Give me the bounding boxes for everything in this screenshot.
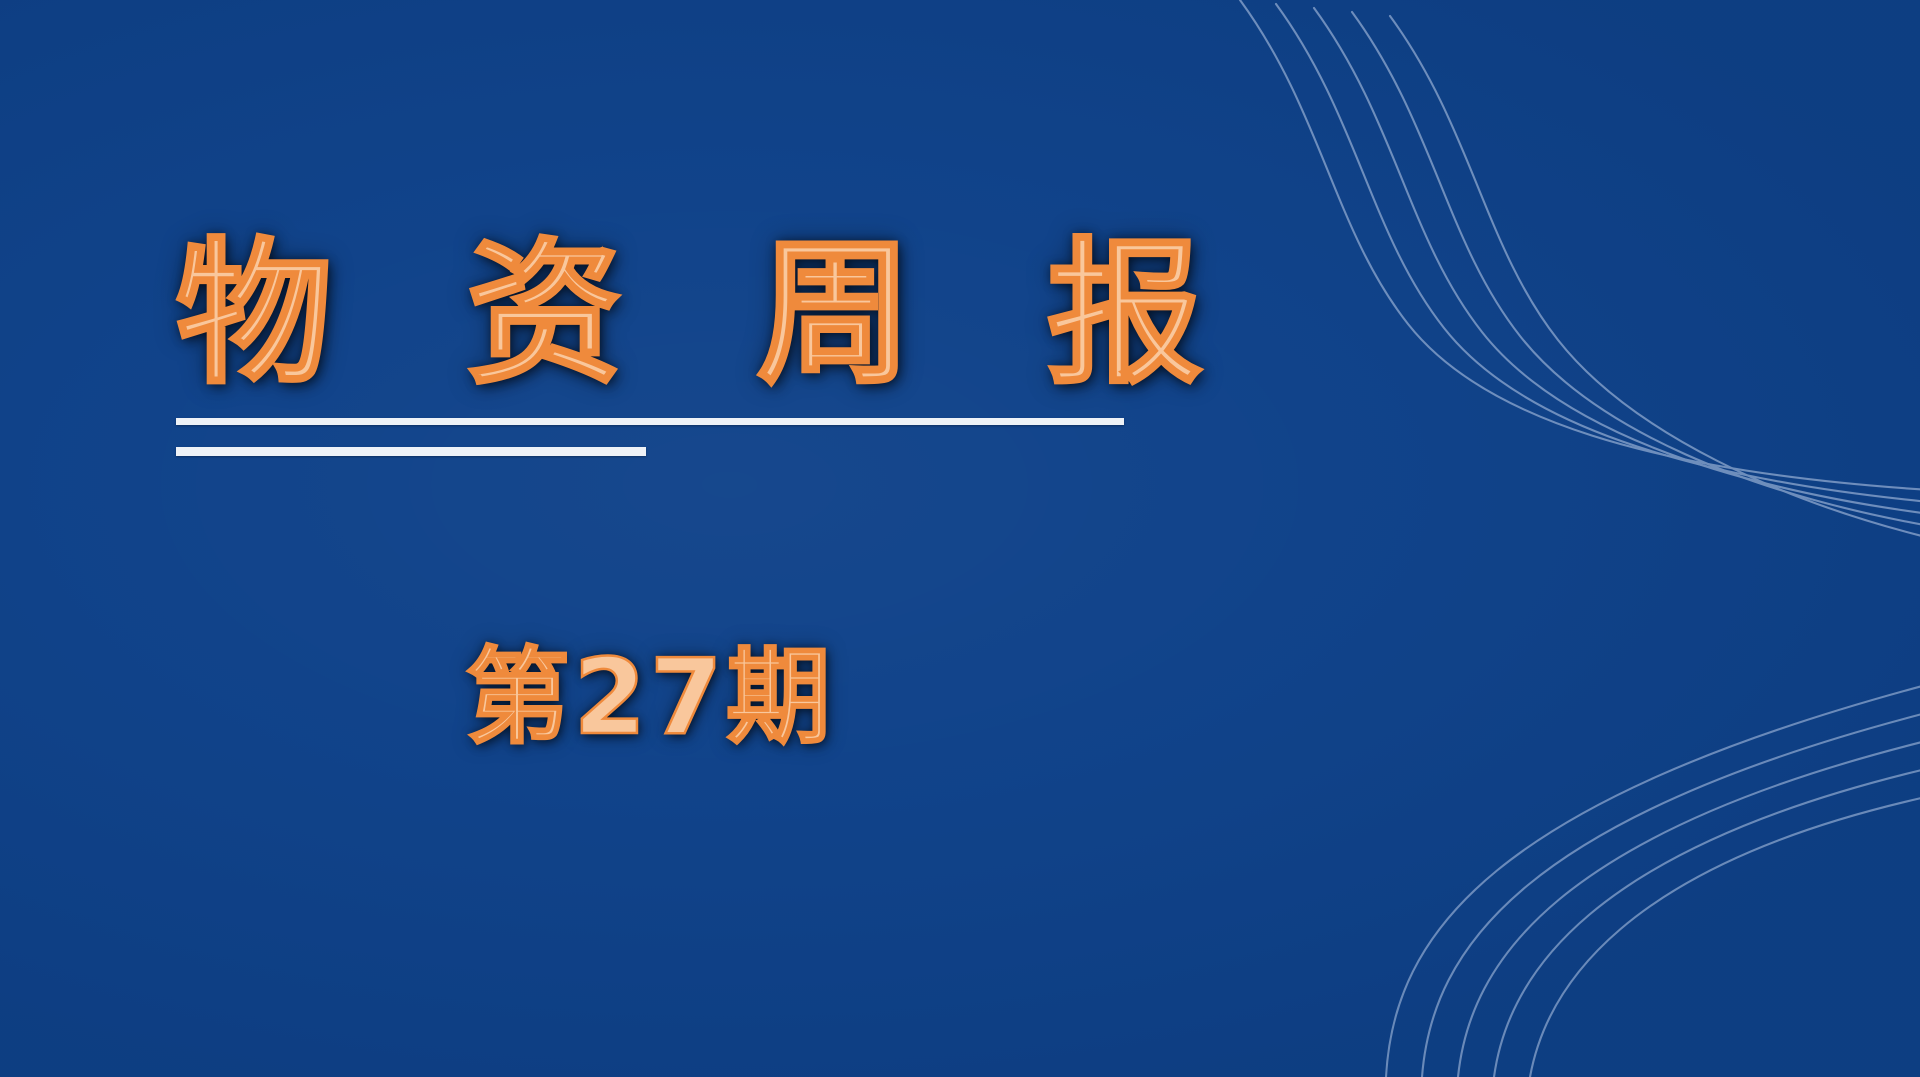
page-title: 物 资 周 报 xyxy=(176,236,1176,392)
background-sheen xyxy=(0,0,1920,1077)
title-underline-long xyxy=(176,418,1124,425)
issue-number: 第27期 xyxy=(466,640,835,754)
title-slide: 物 资 周 报 第27期 xyxy=(0,0,1920,1077)
title-underline-short xyxy=(176,447,646,456)
subtitle-block: 第27期 xyxy=(176,640,1124,754)
s-curve-lines-decoration-icon xyxy=(1230,0,1920,554)
arc-lines-decoration-icon xyxy=(1226,581,1920,1077)
title-block: 物 资 周 报 xyxy=(176,236,1176,456)
